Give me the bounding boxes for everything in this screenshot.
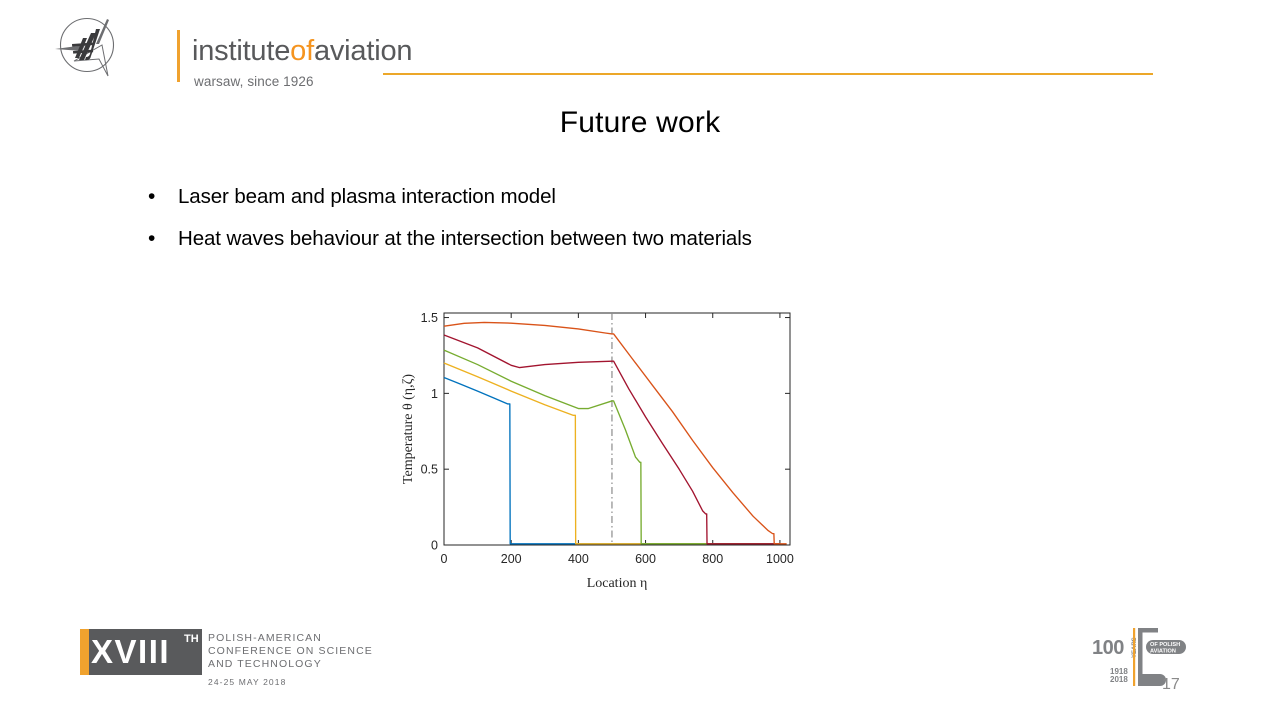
- list-item: • Heat waves behaviour at the intersecti…: [148, 224, 1108, 254]
- x-tick-label: 400: [568, 552, 589, 566]
- x-tick-label: 800: [702, 552, 723, 566]
- bullet-marker-icon: •: [148, 182, 178, 212]
- page-title: Future work: [0, 106, 1280, 140]
- list-item: • Laser beam and plasma interaction mode…: [148, 182, 1108, 212]
- x-tick-label: 1000: [766, 552, 794, 566]
- wordmark-of: of: [290, 35, 314, 67]
- slide-root: instituteofaviation warsaw, since 1926 F…: [0, 0, 1280, 720]
- temperature-location-chart: 0200400600800100000.511.5Location ηTempe…: [396, 298, 816, 598]
- bullet-marker-icon: •: [148, 224, 178, 254]
- y-tick-label: 1.5: [421, 311, 438, 325]
- conference-roman-numeral: XVIII: [91, 633, 195, 671]
- centenary-year-to: 2018: [1110, 675, 1128, 684]
- logo-divider: [177, 30, 180, 82]
- conference-name-line1: POLISH-AMERICAN: [208, 632, 388, 645]
- conference-name-line2: CONFERENCE ON SCIENCE: [208, 645, 388, 658]
- centenary-line1: OF POLISH: [1150, 642, 1180, 648]
- wordmark-aviation: aviation: [314, 35, 412, 67]
- organization-wordmark: instituteofaviation: [192, 36, 412, 66]
- chart-canvas: 0200400600800100000.511.5Location ηTempe…: [396, 298, 816, 598]
- header-divider-rule: [383, 73, 1153, 75]
- institute-of-aviation-emblem-icon: [52, 14, 130, 80]
- bullet-text: Heat waves behaviour at the intersection…: [178, 224, 752, 254]
- x-tick-label: 600: [635, 552, 656, 566]
- y-axis-label: Temperature θ (η,ζ): [401, 374, 416, 485]
- conference-logo: XVIII TH POLISH-AMERICAN CONFERENCE ON S…: [80, 629, 380, 691]
- organization-tagline: warsaw, since 1926: [194, 74, 314, 89]
- organization-logo: instituteofaviation warsaw, since 1926: [52, 14, 372, 82]
- conference-badge-accent-bar: [80, 629, 89, 675]
- page-number: 17: [1162, 676, 1180, 694]
- conference-name: POLISH-AMERICAN CONFERENCE ON SCIENCE AN…: [208, 632, 388, 671]
- x-axis-label: Location η: [587, 576, 648, 591]
- conference-badge: XVIII TH: [80, 629, 202, 675]
- wordmark-institute: institute: [192, 35, 290, 67]
- centenary-number: 100: [1092, 637, 1124, 659]
- plot-box: [444, 313, 790, 545]
- conference-ordinal-suffix: TH: [184, 633, 199, 645]
- plot-area: 0200400600800100000.511.5Location ηTempe…: [401, 311, 794, 591]
- y-tick-label: 0.5: [421, 463, 438, 477]
- conference-name-line3: AND TECHNOLOGY: [208, 658, 388, 671]
- curve-5: [444, 322, 787, 543]
- y-tick-label: 1: [431, 387, 438, 401]
- bullet-text: Laser beam and plasma interaction model: [178, 182, 556, 212]
- centenary-line2: AVIATION: [1150, 649, 1176, 655]
- bullet-list: • Laser beam and plasma interaction mode…: [148, 182, 1108, 266]
- slide-header: instituteofaviation warsaw, since 1926: [0, 0, 1280, 95]
- conference-date: 24-25 MAY 2018: [208, 677, 286, 687]
- y-tick-label: 0: [431, 539, 438, 553]
- x-tick-label: 0: [441, 552, 448, 566]
- x-tick-label: 200: [501, 552, 522, 566]
